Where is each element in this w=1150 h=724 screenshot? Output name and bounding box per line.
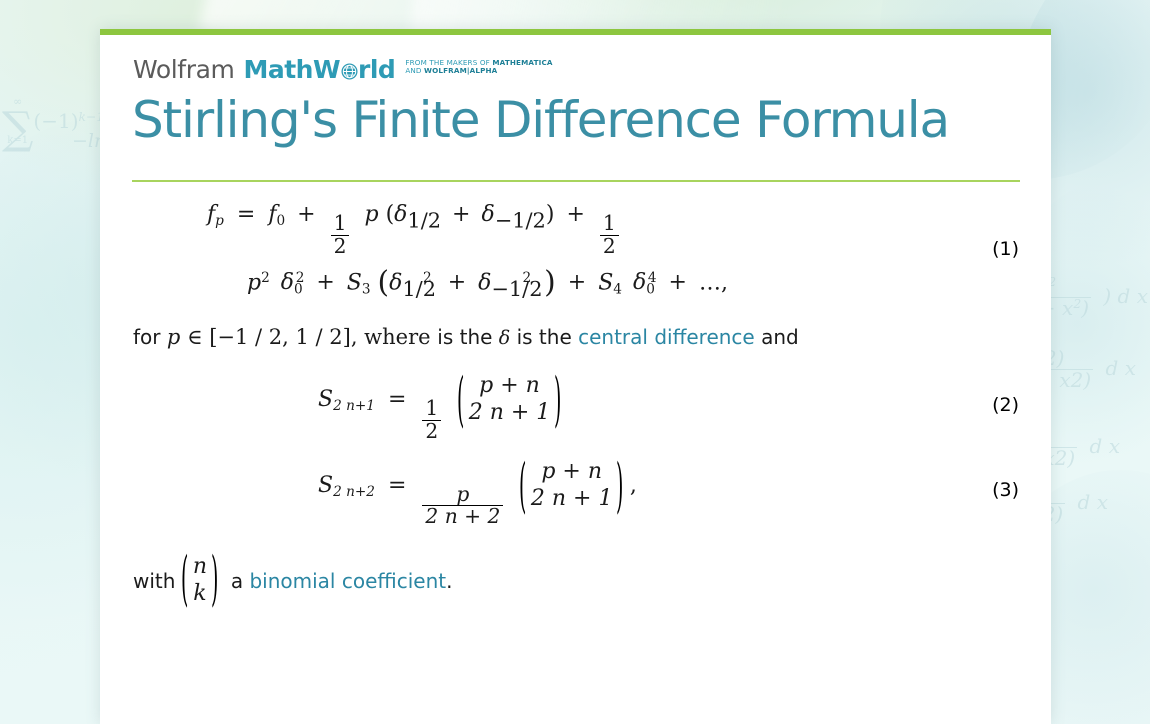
para2-binomial-stack: n k	[193, 554, 207, 608]
para2-left-paren: (	[181, 543, 188, 620]
watermark-sum-symbol: ∑	[2, 111, 33, 146]
para1-suffix: and	[755, 325, 799, 349]
paragraph-domain: for p ∈ [−1 / 2, 1 / 2], where is the δ …	[132, 324, 1019, 351]
eq1b-ellipsis: …,	[699, 270, 728, 295]
watermark-differential: ) d x	[1103, 284, 1148, 308]
para2-mid: a	[224, 568, 249, 594]
eq2-binomial-top: p + n	[479, 373, 540, 400]
para2-binomial: ( n k )	[177, 554, 222, 608]
eq1b-delta-2-sup: 2	[523, 270, 532, 286]
eq1b-S4-sub: 4	[613, 281, 622, 297]
para1-mid: is the	[437, 325, 499, 349]
eq3-binomial-top: p + n	[541, 459, 602, 486]
eq1b-delta-1-sup: 2	[423, 270, 432, 286]
eq1b-close-paren: )	[544, 265, 556, 300]
eq3-fraction: p2 n + 2	[422, 484, 503, 529]
para2-prefix: with	[133, 568, 175, 594]
logo-math-text: Math	[243, 57, 313, 82]
eq1b-delta-4-sup: 4	[648, 270, 657, 286]
eq1-half-fraction: 12	[331, 213, 350, 258]
para1-delta: δ	[499, 327, 510, 349]
page-title: Stirling's Finite Difference Formula	[132, 94, 1019, 147]
link-central-difference[interactable]: central difference	[578, 325, 755, 349]
equation-number-1: (1)	[992, 238, 1019, 260]
equation-3-content: S2 n+2 = p2 n + 2 ( p + n 2 n + 1 ) ,	[318, 473, 637, 498]
eq1-open-paren: (	[386, 202, 395, 227]
eq1b-delta-1: δ	[389, 270, 402, 295]
eq3-binomial-bottom: 2 n + 1	[531, 486, 613, 513]
para1-prefix: for	[133, 325, 167, 349]
eq1-plus-2: +	[566, 202, 584, 227]
watermark-differential: d x	[1106, 356, 1136, 380]
logo-tagline: From the makers of Mathematica and Wolfr…	[405, 59, 552, 76]
eq2-binomial-stack: p + n 2 n + 1	[469, 373, 551, 427]
eq2-left-paren: (	[457, 366, 464, 435]
eq1b-S3: S	[347, 270, 362, 295]
eq1b-open-paren: (	[378, 265, 390, 300]
eq1-f-subscript: p	[215, 213, 224, 229]
tagline-line-2: and Wolfram|Alpha	[405, 66, 497, 75]
eq1-delta-1: δ	[394, 202, 407, 227]
watermark-exponent: 2	[1073, 296, 1081, 311]
eq1b-delta-2-sub: −1/2	[491, 277, 542, 301]
logo-mathworld-text: MathWrld	[243, 57, 395, 82]
watermark-differential: d x	[1090, 434, 1120, 458]
eq1b-delta-2: δ	[478, 270, 491, 295]
globe-icon	[341, 59, 358, 76]
eq3-trailing-comma: ,	[630, 473, 637, 498]
page-root: ∞ ∑ k=1 (−1)k−1 −ln x2 (b2 − x2) ) d x 2…	[0, 0, 1150, 724]
equation-2-content: S2 n+1 = 12 ( p + n 2 n + 1 )	[318, 387, 568, 412]
equation-number-2: (2)	[992, 394, 1019, 416]
eq3-equals: =	[388, 473, 406, 498]
equation-3: S2 n+2 = p2 n + 2 ( p + n 2 n + 1 ) , (3	[132, 459, 1019, 529]
eq1-delta-2-subscript: −1/2	[495, 208, 546, 232]
eq1b-plus-3: +	[669, 270, 687, 295]
eq1b-p: p	[247, 270, 261, 295]
eq1b-plus-mid: +	[448, 270, 466, 295]
equation-1-line-2: p2 δ02 + S3 (δ1/22 + δ−1/22) + S4 δ04 + …	[207, 265, 1019, 300]
eq2-fraction: 12	[422, 398, 441, 443]
eq1b-delta-4: δ	[633, 270, 646, 295]
eq1-f0-subscript: 0	[276, 213, 285, 229]
eq1b-delta-0-sup: 2	[296, 270, 305, 286]
tagline-wolfram-alpha: Wolfram|Alpha	[424, 66, 497, 75]
eq2-equals: =	[388, 387, 406, 412]
logo-world-post: rld	[358, 57, 395, 82]
para1-p-variable: p	[167, 325, 180, 349]
site-logo[interactable]: Wolfram MathWrld From the makers of Math…	[133, 57, 1019, 87]
eq1-half-fraction-2: 12	[600, 213, 619, 258]
eq2-S-subscript: 2 n+1	[333, 398, 375, 414]
eq1b-S4: S	[598, 270, 613, 295]
eq1b-p-exponent: 2	[261, 270, 270, 286]
eq1b-plus-2: +	[568, 270, 586, 295]
eq2-binomial: ( p + n 2 n + 1 )	[453, 373, 565, 427]
para2-period: .	[446, 568, 452, 594]
para1-interval: ∈ [−1 / 2, 1 / 2], where	[180, 325, 437, 349]
eq1-delta-1-subscript: 1/2	[407, 208, 441, 232]
eq3-binomial-stack: p + n 2 n + 1	[531, 459, 613, 513]
logo-wolfram-text: Wolfram	[133, 57, 234, 82]
eq3-left-paren: (	[519, 451, 526, 520]
eq3-S: S	[318, 473, 333, 498]
eq1b-plus-1: +	[316, 270, 334, 295]
eq3-right-paren: )	[616, 451, 623, 520]
eq3-S-subscript: 2 n+2	[333, 484, 375, 500]
equation-1-line-1: fp = f0 + 12 p (δ1/2 + δ−1/2) + 12	[207, 202, 1019, 258]
link-binomial-coefficient[interactable]: binomial coefficient	[249, 568, 446, 594]
eq1-plus-1: +	[297, 202, 315, 227]
eq1-f: f	[207, 202, 215, 227]
eq1-delta-2: δ	[481, 202, 494, 227]
eq2-binomial-bottom: 2 n + 1	[469, 400, 551, 427]
content-card: Wolfram MathWrld From the makers of Math…	[100, 29, 1051, 724]
watermark-differential: d x	[1078, 490, 1108, 514]
eq2-right-paren: )	[554, 366, 561, 435]
eq3-binomial: ( p + n 2 n + 1 )	[515, 459, 627, 513]
para2-right-paren: )	[211, 543, 218, 620]
eq1-p: p	[364, 202, 378, 227]
eq1b-delta-0: δ	[281, 270, 294, 295]
para2-binomial-bottom: k	[193, 581, 206, 608]
paragraph-binomial: with ( n k ) a binomial coefficient.	[132, 554, 1019, 608]
logo-world-pre: W	[313, 57, 340, 82]
para1-is-the: is the	[510, 325, 578, 349]
tagline-mathematica: Mathematica	[492, 58, 552, 67]
eq2-S: S	[318, 387, 333, 412]
eq1-equals: =	[237, 202, 255, 227]
equation-1: fp = f0 + 12 p (δ1/2 + δ−1/2) + 12 p2	[132, 202, 1019, 300]
equation-2: S2 n+1 = 12 ( p + n 2 n + 1 ) (2)	[132, 373, 1019, 443]
article-body: fp = f0 + 12 p (δ1/2 + δ−1/2) + 12 p2	[132, 182, 1019, 608]
equation-number-3: (3)	[992, 479, 1019, 501]
eq1b-S3-sub: 3	[362, 281, 371, 297]
eq1-plus-mid: +	[452, 202, 470, 227]
para2-binomial-top: n	[193, 554, 207, 581]
eq1-close-paren: )	[546, 202, 555, 227]
